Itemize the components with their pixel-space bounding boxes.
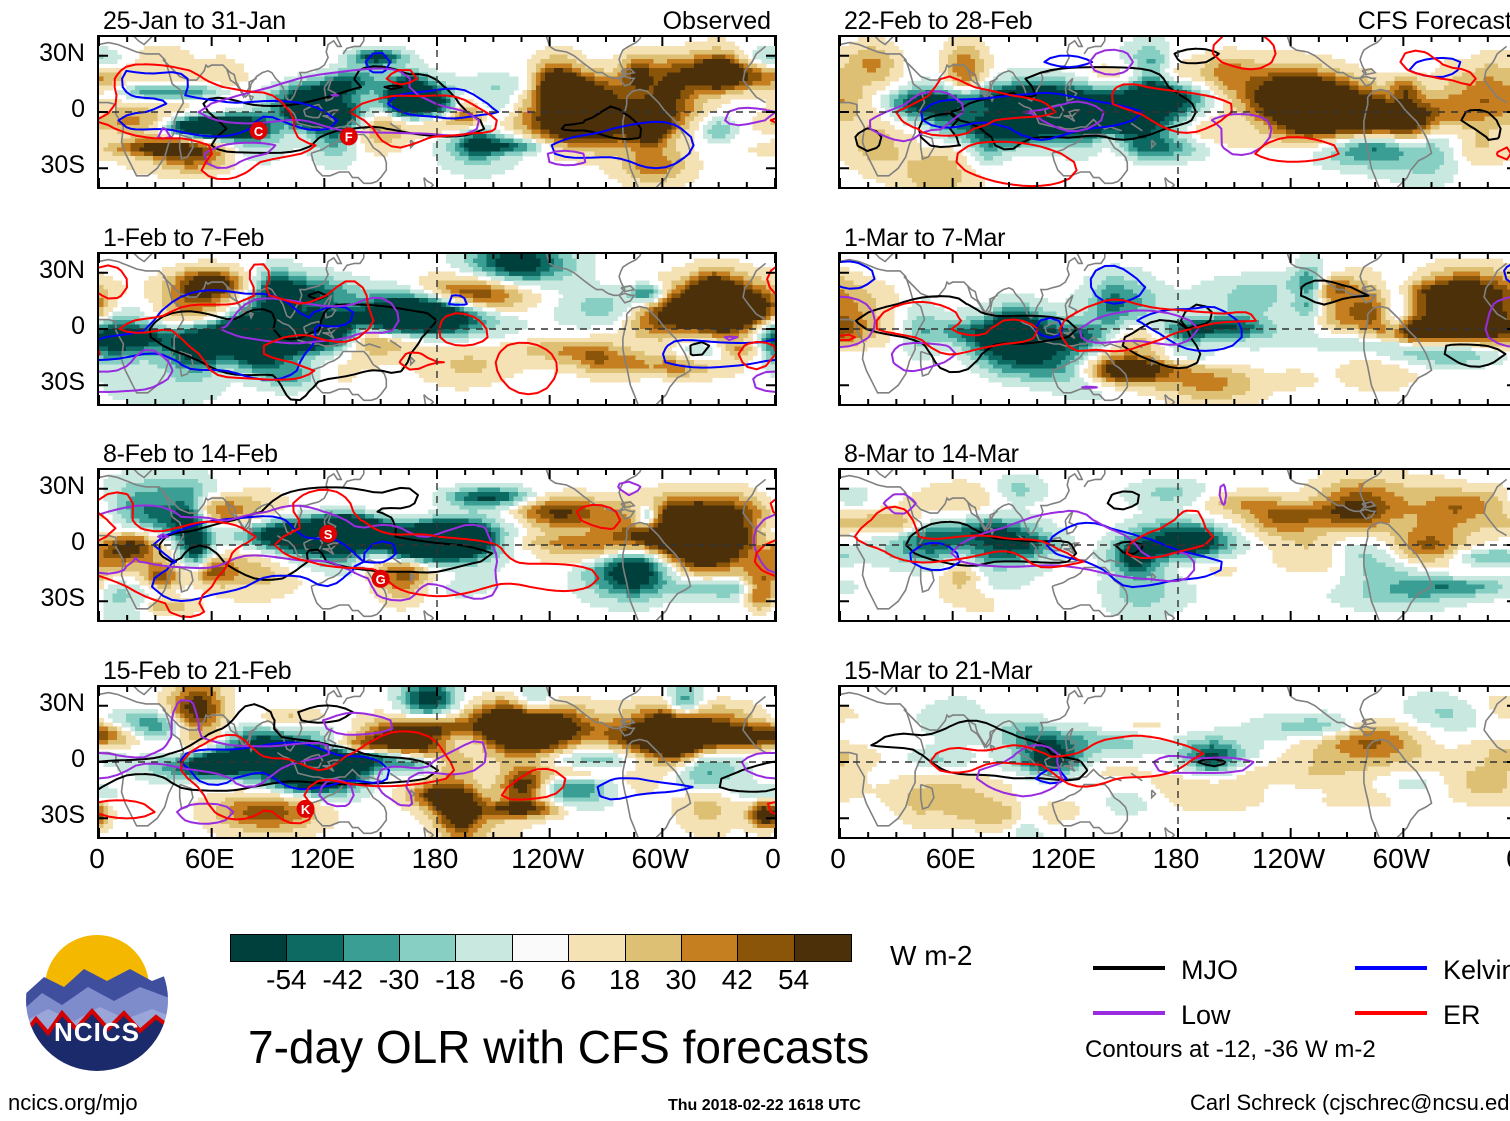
colorbar-units: W m-2 (890, 940, 972, 972)
y-axis-label: 30N (0, 256, 85, 285)
colorbar-swatch (344, 935, 400, 961)
column-header: CFS Forecast (1358, 7, 1510, 36)
y-axis-label: 30N (0, 39, 85, 68)
colorbar-tick-label: 54 (754, 964, 834, 996)
y-axis-label: 30S (0, 151, 85, 180)
map-panel: K (97, 685, 777, 839)
storm-marker: F (340, 127, 358, 145)
y-axis-label: 30S (0, 584, 85, 613)
panel-title: 1-Feb to 7-Feb (103, 224, 264, 253)
ncics-logo: NCICS (22, 925, 172, 1075)
map-panel: CF (97, 35, 777, 189)
svg-text:F: F (345, 129, 353, 144)
storm-marker: G (372, 570, 390, 588)
column-header: Observed (663, 7, 771, 36)
legend-line-er (1355, 1011, 1427, 1015)
y-axis-label: 0 (0, 745, 85, 774)
main-title: 7-day OLR with CFS forecasts (248, 1020, 869, 1074)
map-panel: SG (97, 468, 777, 622)
legend-label: ER (1443, 1000, 1481, 1031)
x-axis-label: 120W (1244, 843, 1334, 875)
x-axis-label: 0 (1469, 843, 1510, 875)
colorbar-swatch (795, 935, 851, 961)
map-panel (97, 252, 777, 406)
panel-title: 25-Jan to 31-Jan (103, 7, 286, 36)
storm-marker: S (319, 525, 337, 543)
colorbar-swatch (682, 935, 738, 961)
legend-line-low (1093, 1011, 1165, 1015)
panel-title: 15-Mar to 21-Mar (844, 657, 1032, 686)
panel-title: 8-Feb to 14-Feb (103, 440, 278, 469)
svg-text:C: C (254, 124, 264, 139)
author: Carl Schreck (cjschrec@ncsu.edu) (1190, 1090, 1510, 1116)
y-axis-label: 0 (0, 528, 85, 557)
site-url: ncics.org/mjo (8, 1090, 138, 1116)
colorbar-swatch (513, 935, 569, 961)
storm-marker: C (250, 122, 268, 140)
x-axis-label: 60E (165, 843, 255, 875)
olr-anomaly-shading (840, 37, 1510, 187)
legend-line-kelvin--2 (1355, 966, 1427, 970)
panel-title: 22-Feb to 28-Feb (844, 7, 1032, 36)
x-axis-label: 0 (52, 843, 142, 875)
x-axis-label: 0 (793, 843, 883, 875)
panel-title: 1-Mar to 7-Mar (844, 224, 1005, 253)
contour-note: Contours at -12, -36 W m-2 (1085, 1036, 1376, 1064)
legend-label: MJO (1181, 955, 1238, 986)
map-panel (838, 468, 1510, 622)
y-axis-label: 30S (0, 801, 85, 830)
colorbar-swatch (287, 935, 343, 961)
y-axis-label: 0 (0, 312, 85, 341)
colorbar-swatch (569, 935, 625, 961)
y-axis-label: 30S (0, 368, 85, 397)
panel-title: 15-Feb to 21-Feb (103, 657, 291, 686)
colorbar (230, 934, 852, 962)
x-axis-label: 60W (615, 843, 705, 875)
y-axis-label: 30N (0, 472, 85, 501)
x-axis-label: 120W (503, 843, 593, 875)
ncics-logo-label: NCICS (22, 1017, 172, 1048)
storm-marker: K (297, 800, 315, 818)
legend-label: Kelvin x2 (1443, 955, 1510, 986)
legend-label: Low (1181, 1000, 1231, 1031)
x-axis-label: 120E (1018, 843, 1108, 875)
y-axis-label: 0 (0, 95, 85, 124)
map-panel (838, 252, 1510, 406)
olr-anomaly-shading (840, 254, 1510, 404)
x-axis-label: 180 (1131, 843, 1221, 875)
map-panel (838, 685, 1510, 839)
olr-anomaly-shading (840, 470, 1510, 620)
legend-line-mjo (1093, 966, 1165, 970)
colorbar-swatch (400, 935, 456, 961)
panel-title: 8-Mar to 14-Mar (844, 440, 1019, 469)
y-axis-label: 30N (0, 689, 85, 718)
timestamp: Thu 2018-02-22 1618 UTC (668, 1097, 861, 1115)
colorbar-swatch (231, 935, 287, 961)
x-axis-label: 180 (390, 843, 480, 875)
colorbar-swatch (738, 935, 794, 961)
x-axis-label: 60W (1356, 843, 1446, 875)
ncics-logo-icon (22, 925, 172, 1075)
map-panel (838, 35, 1510, 189)
colorbar-swatch (626, 935, 682, 961)
x-axis-label: 60E (906, 843, 996, 875)
x-axis-label: 120E (277, 843, 367, 875)
colorbar-swatch (456, 935, 512, 961)
